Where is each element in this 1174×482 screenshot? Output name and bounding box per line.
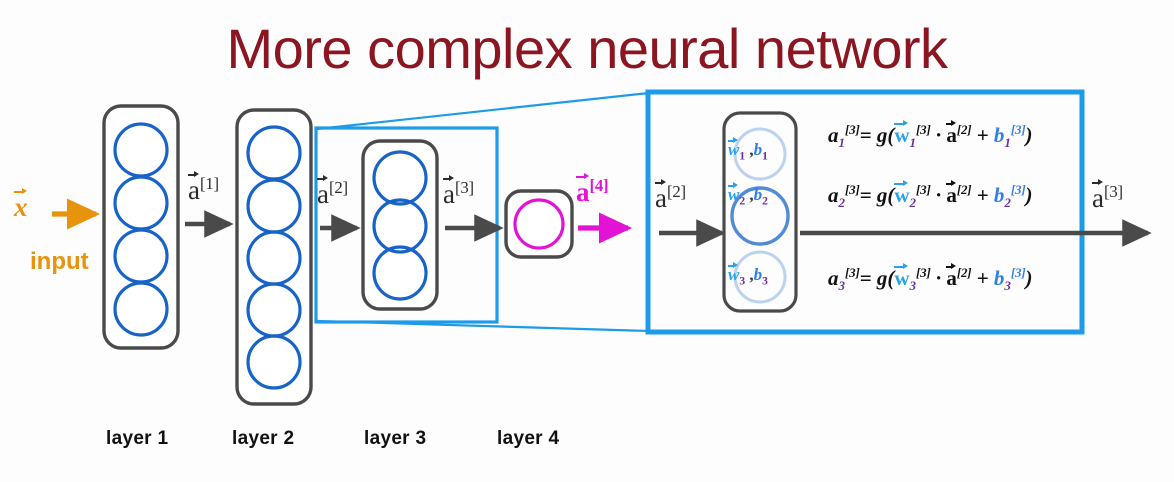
callout-output-label: a[3] <box>1092 182 1123 214</box>
callout-equation-3: a3[3]= g(w3[3] · a[2] + b3[3]) <box>828 265 1032 294</box>
layer-3-group[interactable] <box>363 141 437 309</box>
layer-4-group[interactable] <box>506 191 572 257</box>
callout-unit-1-params: w1 ,b1 <box>728 140 768 162</box>
activation-label-a3: a[3] <box>443 178 474 210</box>
input-caption: input <box>30 248 89 276</box>
callout-unit-2-params: w2 ,b2 <box>728 185 768 207</box>
callout-input-label: a[2] <box>655 182 686 214</box>
layer-label-2: layer 2 <box>232 428 294 450</box>
page-title: More complex neural network <box>0 16 1174 81</box>
layer-label-4: layer 4 <box>497 428 559 450</box>
input-vector-symbol: x <box>14 192 28 223</box>
callout-unit-3-params: w3 ,b3 <box>728 265 768 287</box>
activation-label-a1: a[1] <box>188 174 219 206</box>
layer-label-1: layer 1 <box>106 428 168 450</box>
activation-label-a2: a[2] <box>317 178 348 210</box>
layer-label-3: layer 3 <box>364 428 426 450</box>
callout-equation-1: a1[3]= g(w1[3] · a[2] + b1[3]) <box>828 122 1032 151</box>
layer-1-group[interactable] <box>104 106 178 348</box>
activation-label-a4: a[4] <box>576 176 608 208</box>
layer-2-group[interactable] <box>237 110 311 404</box>
callout-equation-2: a2[3]= g(w2[3] · a[2] + b2[3]) <box>828 182 1032 211</box>
slide-canvas: More complex neural network x input a[1]… <box>0 0 1174 482</box>
